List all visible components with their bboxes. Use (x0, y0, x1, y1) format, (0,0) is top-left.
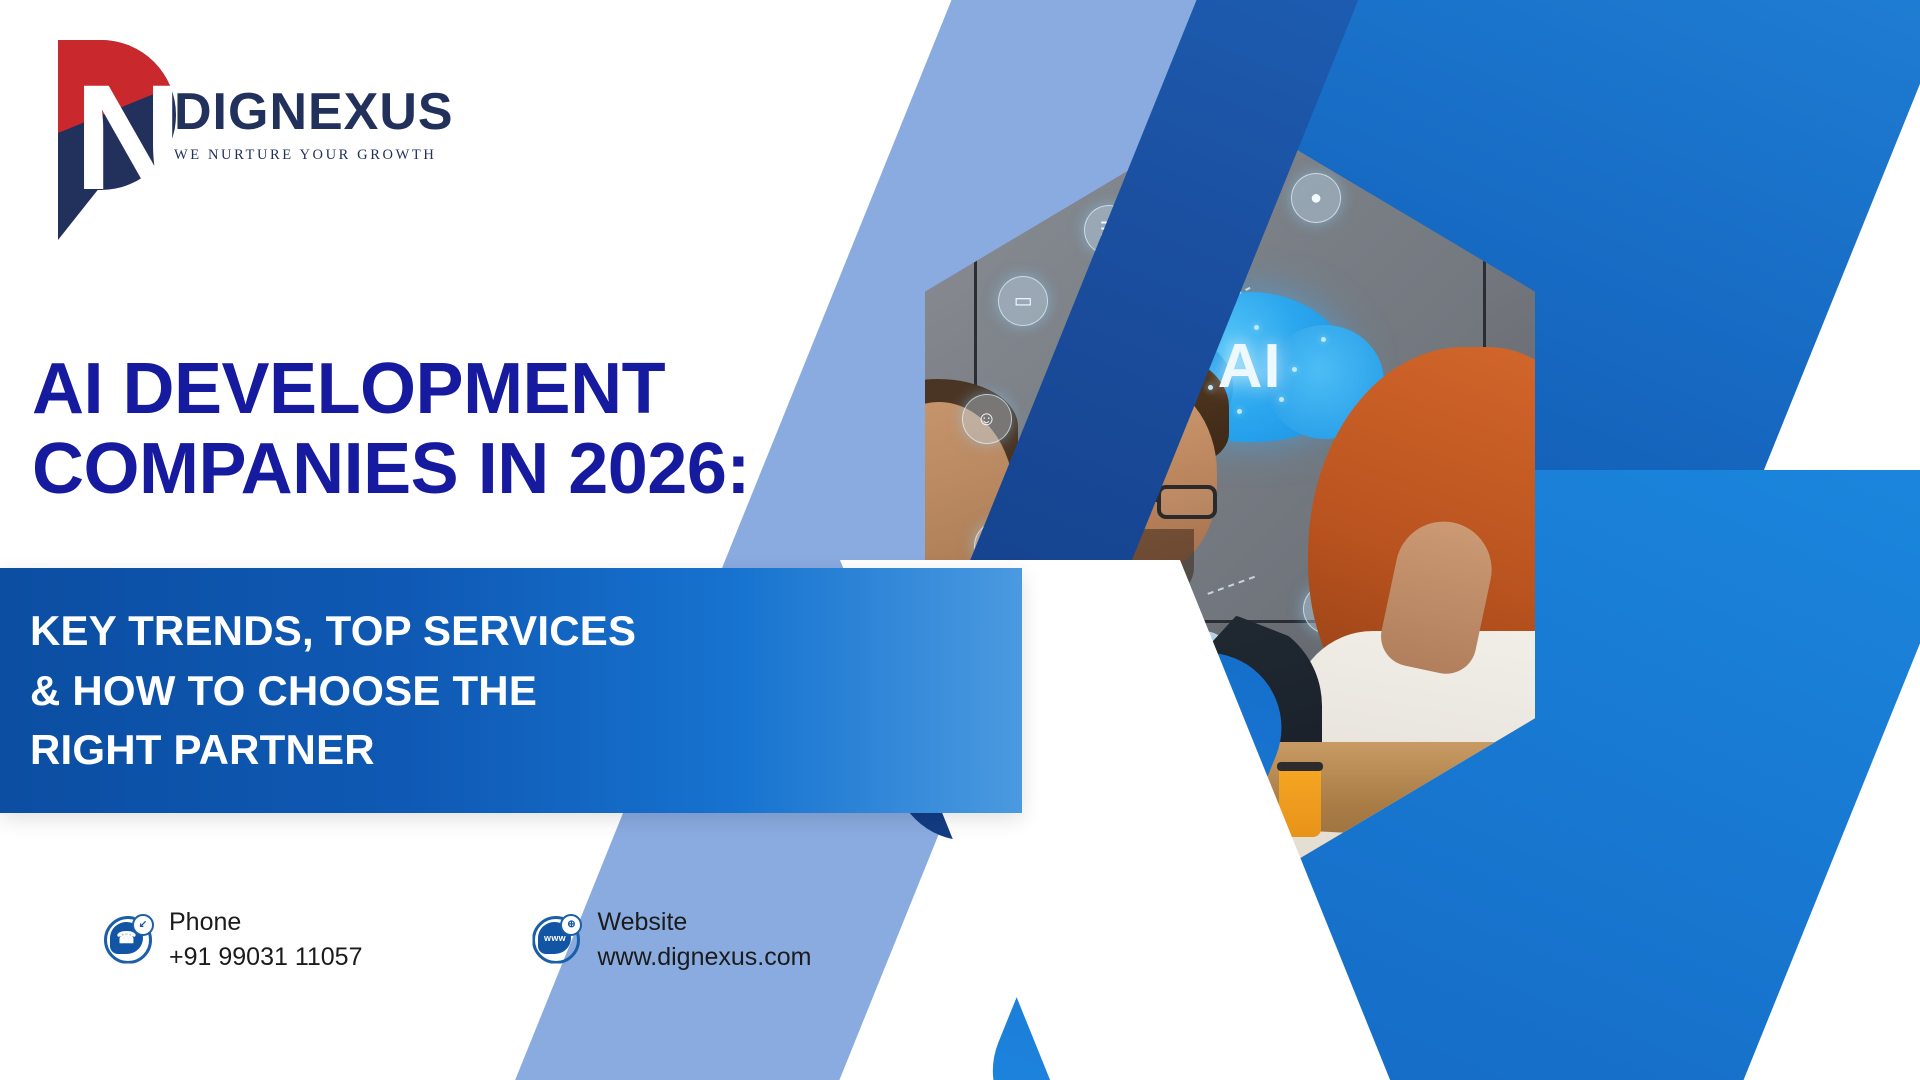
contact-website-value: www.dignexus.com (597, 940, 811, 975)
profile-icon: ● (1291, 173, 1341, 223)
headline-line-1: AI DEVELOPMENT (32, 350, 962, 430)
contact-website[interactable]: www ⊕ Website www.dignexus.com (532, 905, 811, 974)
contact-phone-label: Phone (169, 905, 362, 940)
subtitle-line-2: & HOW TO CHOOSE THE (30, 661, 636, 721)
contact-phone[interactable]: ☎ ↙ Phone +91 99031 11057 (104, 905, 362, 974)
subtitle-line-1: KEY TRENDS, TOP SERVICES (30, 601, 636, 661)
phone-icon: ☎ ↙ (104, 916, 152, 964)
headline-line-2: COMPANIES IN 2026: (32, 430, 962, 510)
page-title: AI DEVELOPMENT COMPANIES IN 2026: (32, 350, 962, 510)
logo-n-letter: N (74, 62, 166, 212)
phone-icon-badge: ↙ (132, 914, 154, 936)
contact-phone-value: +91 99031 11057 (169, 940, 362, 975)
banner-canvas: AI ☰ ▭ ☺ ♟ ● ◎ ● ◎ (0, 0, 1920, 1080)
contact-phone-text: Phone +91 99031 11057 (169, 905, 362, 974)
robot-avatar-icon: ☺ (962, 394, 1012, 444)
website-icon-globe-badge: ⊕ (560, 914, 582, 936)
contact-website-text: Website www.dignexus.com (597, 905, 811, 974)
logo-wordmark: DIGNEXUS WE NURTURE YOUR GROWTH (174, 80, 454, 164)
contact-website-label: Website (597, 905, 811, 940)
brand-tagline: WE NURTURE YOUR GROWTH (174, 147, 454, 164)
contact-row: ☎ ↙ Phone +91 99031 11057 www ⊕ Website … (104, 905, 811, 974)
website-icon: www ⊕ (532, 916, 580, 964)
monitor-icon: ▭ (998, 276, 1048, 326)
subtitle-band: KEY TRENDS, TOP SERVICES & HOW TO CHOOSE… (0, 568, 1022, 813)
subtitle-text: KEY TRENDS, TOP SERVICES & HOW TO CHOOSE… (0, 601, 636, 780)
logo-monogram-icon: N (30, 32, 170, 212)
subtitle-line-3: RIGHT PARTNER (30, 720, 636, 780)
glasses-lens-right (1157, 485, 1217, 519)
brand-logo[interactable]: N DIGNEXUS WE NURTURE YOUR GROWTH (30, 32, 454, 212)
brand-name: DIGNEXUS (174, 86, 454, 138)
